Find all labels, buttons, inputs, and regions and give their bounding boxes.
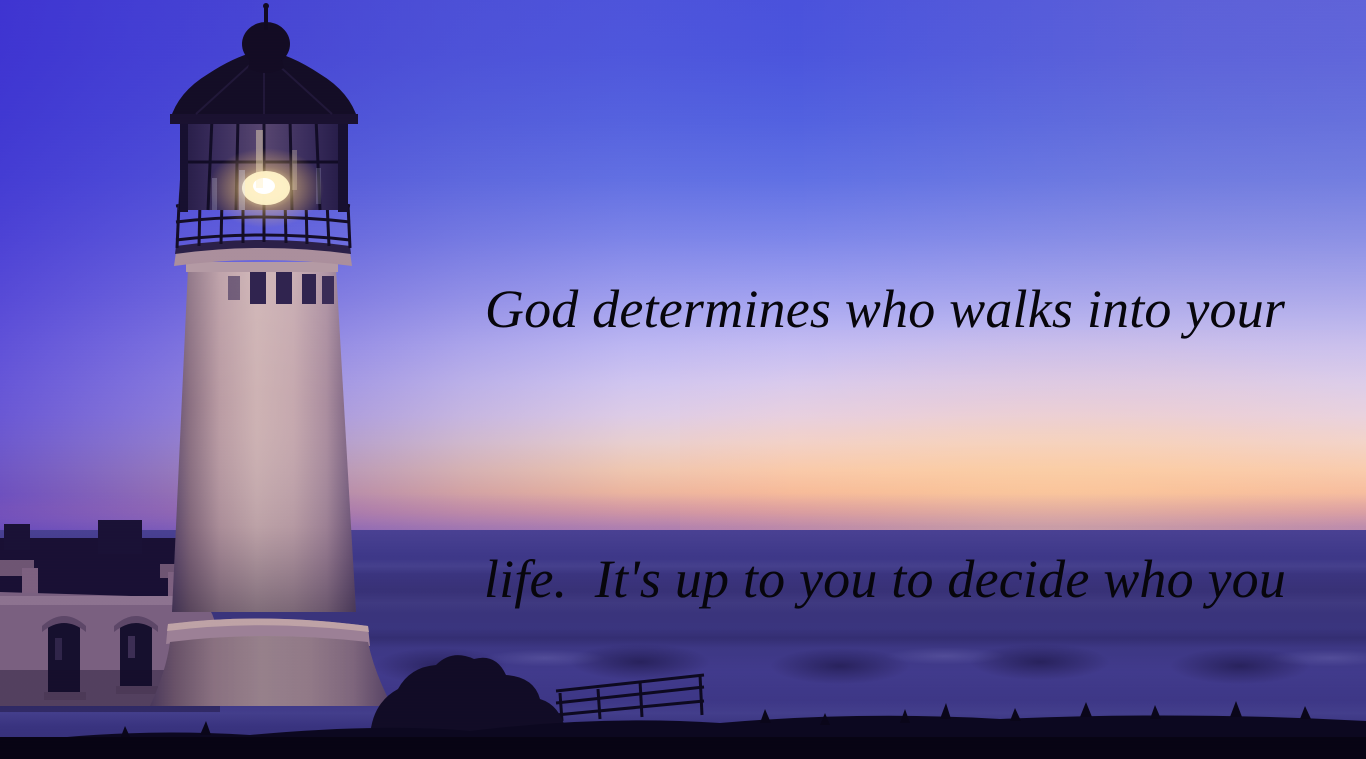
- lamp-light-shaft: [292, 150, 297, 190]
- rod-tip: [263, 3, 269, 9]
- tower-window: [302, 274, 316, 304]
- tower-window: [228, 276, 240, 300]
- tower-window: [250, 272, 266, 304]
- lantern-post: [338, 116, 348, 212]
- lantern-post: [180, 116, 188, 212]
- tower-window: [276, 272, 292, 304]
- lamp-light-shaft: [316, 168, 321, 204]
- tower-shading: [172, 268, 356, 612]
- lamp-light-shaft: [212, 178, 217, 210]
- wallpaper-scene: God determines who walks into your life.…: [0, 0, 1366, 759]
- lamp-light-shaft: [256, 130, 263, 188]
- tower-band: [186, 262, 338, 272]
- quote-line-2: life. It's up to you to decide who you: [420, 534, 1350, 624]
- quote-line-1: God determines who walks into your: [420, 264, 1350, 354]
- tower-window: [322, 276, 334, 304]
- lamp-light-shaft: [239, 170, 245, 210]
- quote-text-block: God determines who walks into your life.…: [420, 84, 1350, 759]
- dome-eave: [170, 114, 358, 124]
- lightning-rod: [264, 6, 268, 30]
